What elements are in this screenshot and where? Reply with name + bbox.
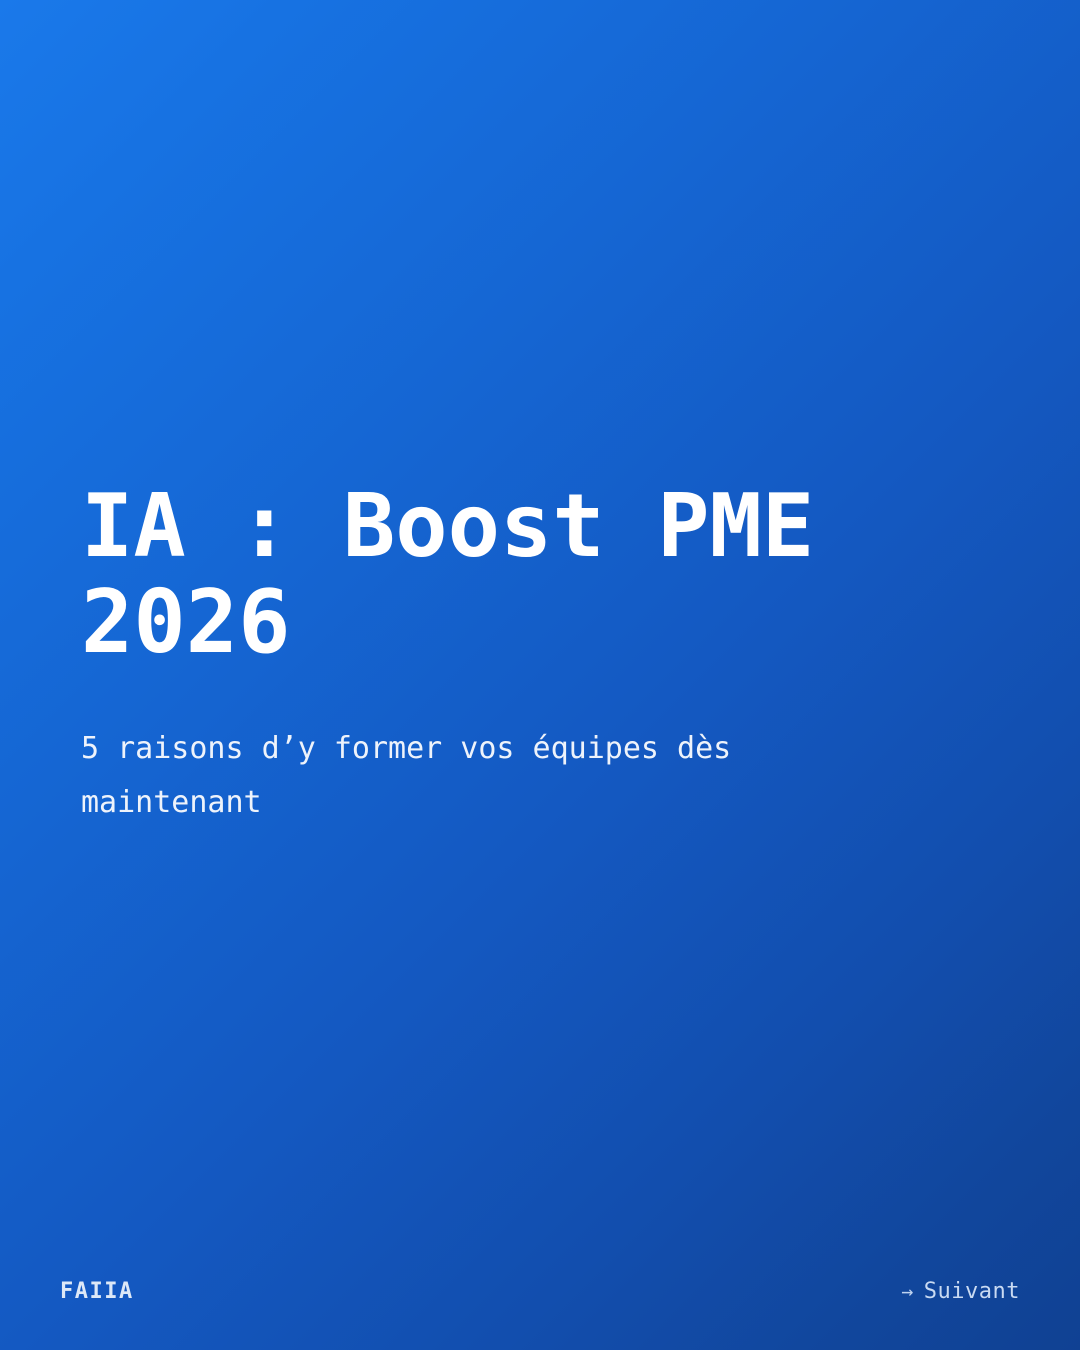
slide-canvas: IA : Boost PME 2026 5 raisons d’y former… [0,0,1080,1350]
next-button-label: Suivant [924,1279,1020,1304]
brand-logo: FAIIA [60,1279,134,1304]
slide-content: IA : Boost PME 2026 5 raisons d’y former… [81,478,981,830]
arrow-right-icon: → [901,1281,914,1301]
slide-subtitle: 5 raisons d’y former vos équipes dès mai… [81,670,871,830]
next-button[interactable]: → Suivant [901,1279,1020,1304]
slide-footer: FAIIA → Suivant [0,1232,1080,1350]
page-title: IA : Boost PME 2026 [81,478,981,670]
